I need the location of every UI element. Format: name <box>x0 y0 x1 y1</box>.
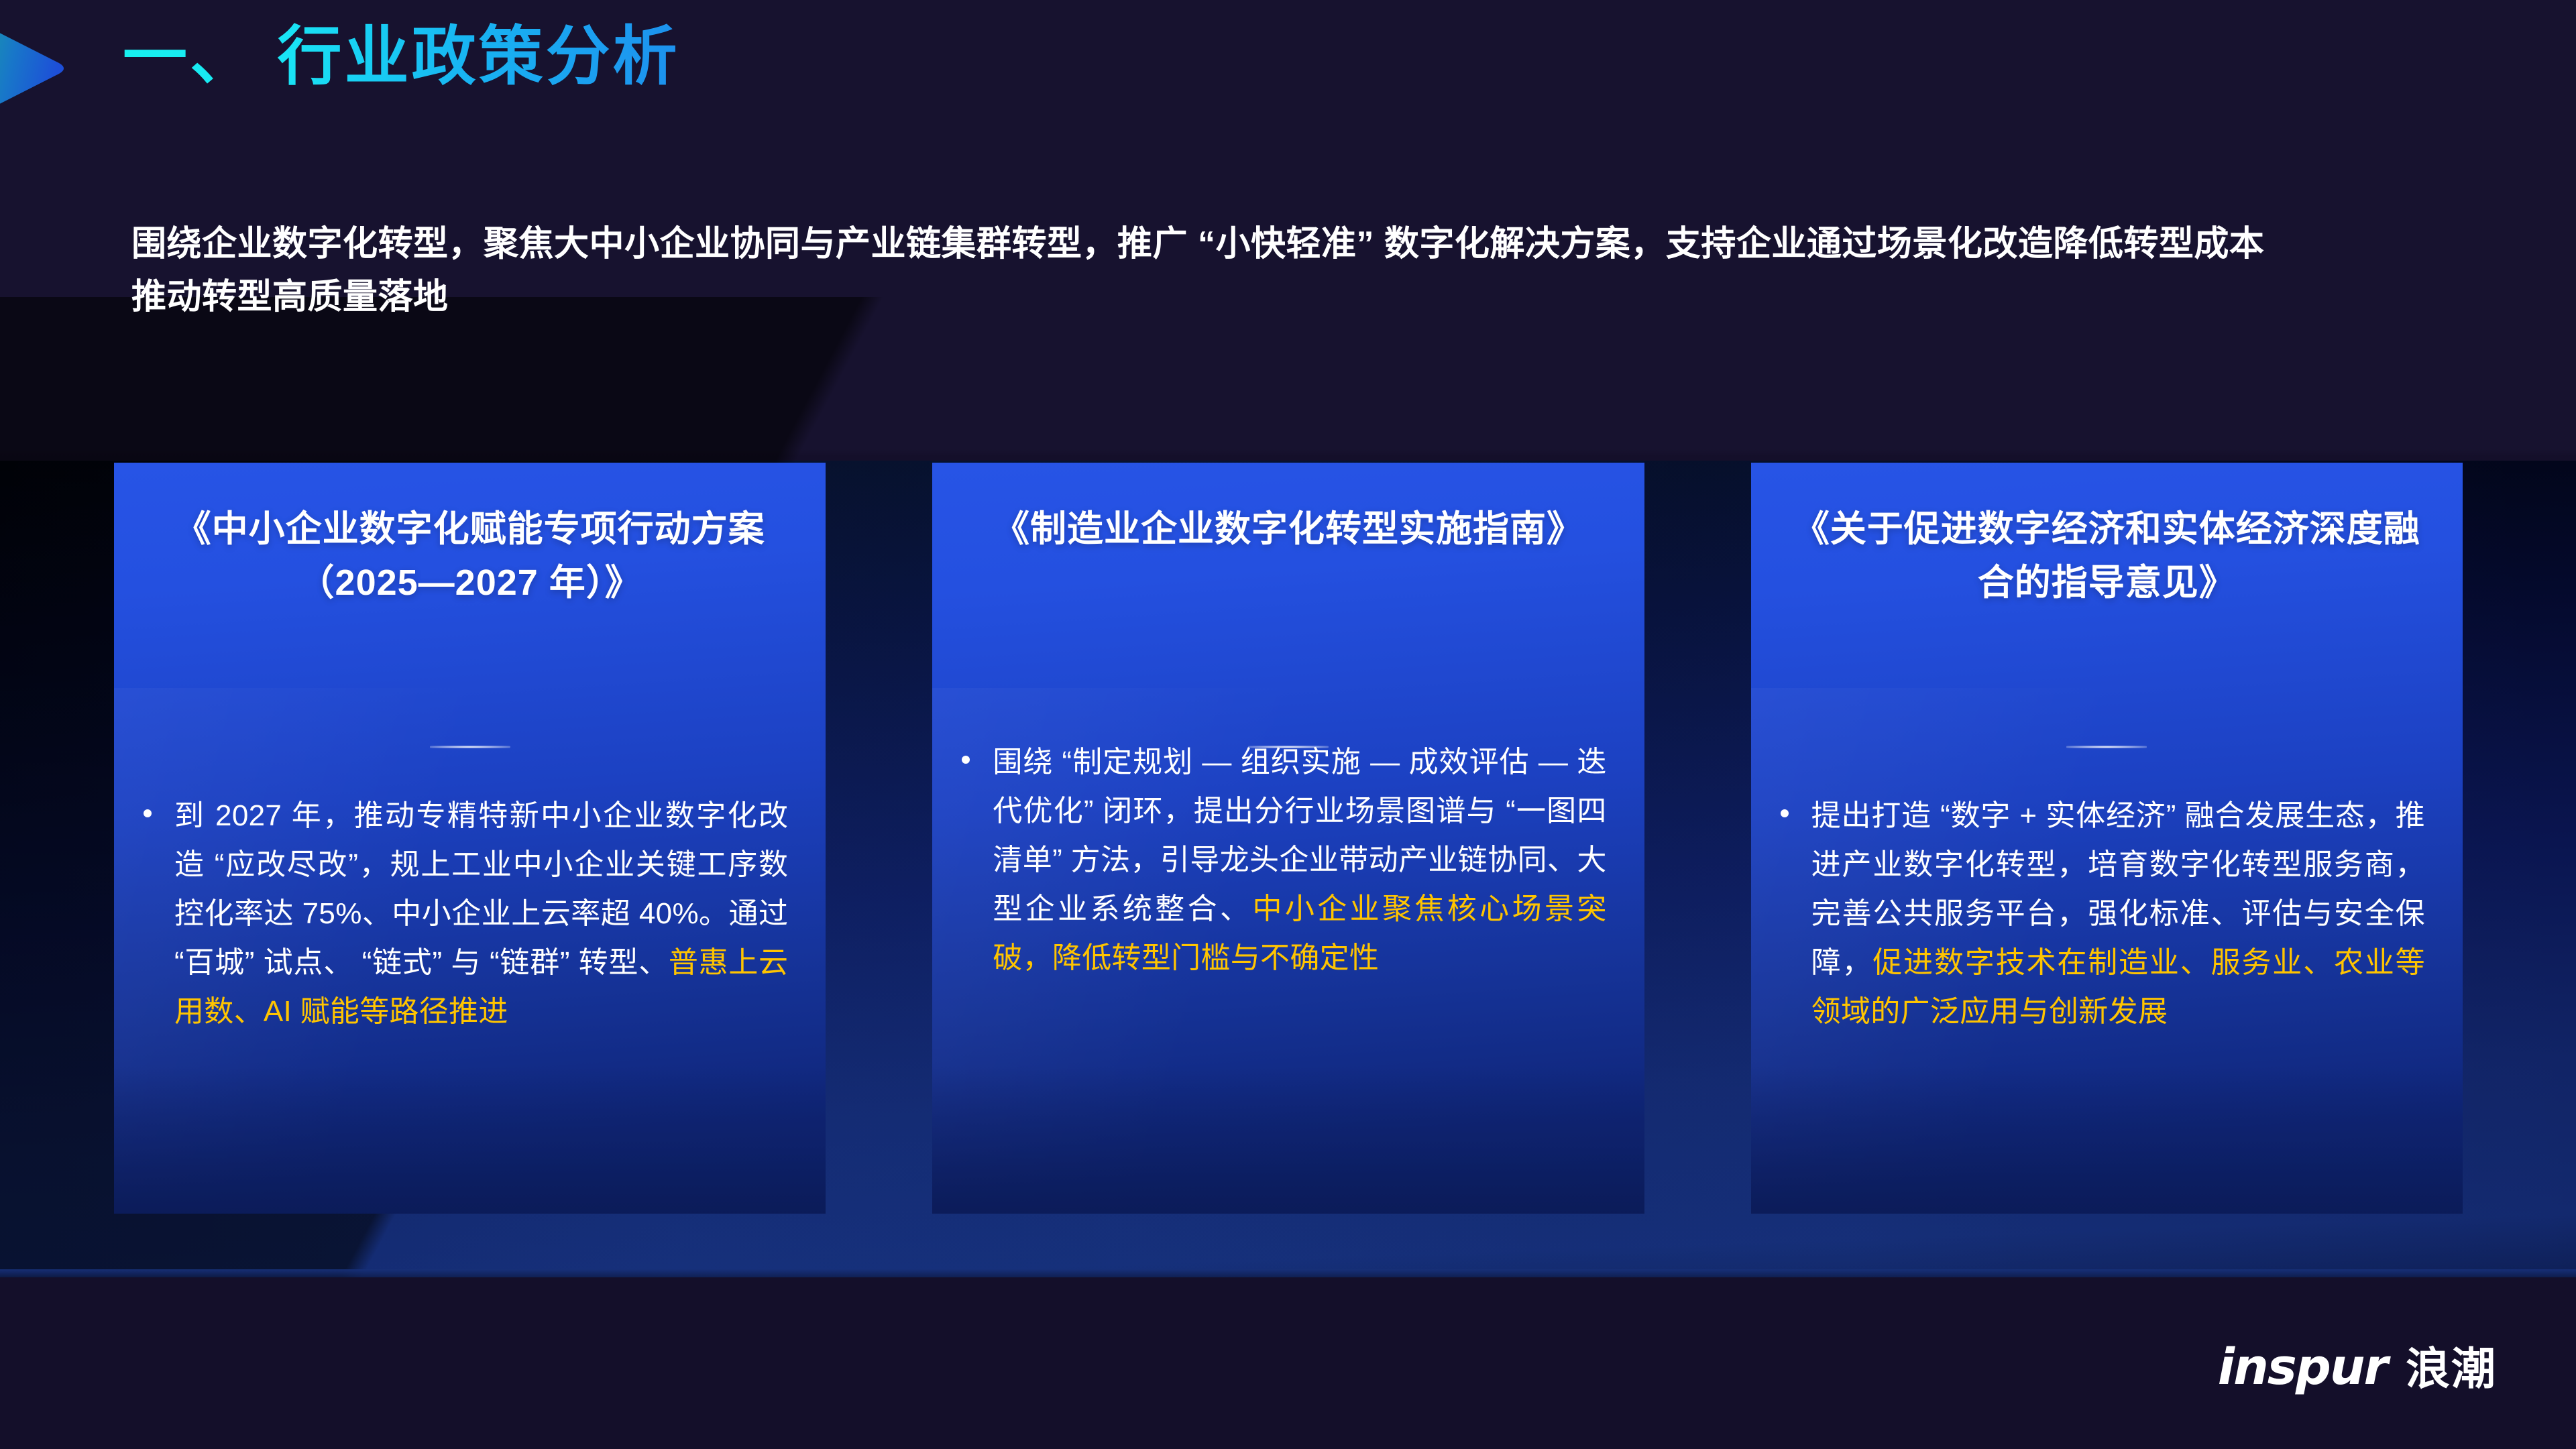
policy-card[interactable]: 《关于促进数字经济和实体经济深度融合的指导意见》 提出打造 “数字 + 实体经济… <box>1751 463 2463 1214</box>
card-body: 围绕 “制定规划 — 组织实施 — 成效评估 — 迭代优化” 闭环，提出分行业场… <box>962 557 1606 982</box>
bullet-point-icon <box>1781 809 1789 817</box>
brand-logo-wordmark: inspur <box>2218 1338 2387 1396</box>
brand-logo: inspur 浪潮 <box>2218 1333 2497 1397</box>
brand-logo-chinese: 浪潮 <box>2406 1333 2497 1397</box>
card-title: 《制造业企业数字化转型实施指南》 <box>970 503 1606 557</box>
policy-card-row: 《中小企业数字化赋能专项行动方案（2025—2027 年）》 到 2027 年，… <box>114 463 2463 1214</box>
card-title: 《中小企业数字化赋能专项行动方案（2025—2027 年）》 <box>152 503 788 610</box>
card-bullet-highlight: 促进数字技术在制造业、服务业、农业等领域的广泛应用与创新发展 <box>1811 946 2425 1028</box>
background-band-hairline <box>0 1269 2576 1277</box>
card-title: 《关于促进数字经济和实体经济深度融合的指导意见》 <box>1789 503 2425 610</box>
policy-card[interactable]: 《中小企业数字化赋能专项行动方案（2025—2027 年）》 到 2027 年，… <box>114 463 826 1214</box>
card-bullet-text: 提出打造 “数字 + 实体经济” 融合发展生态，推进产业数字化转型，培育数字化转… <box>1811 791 2425 1036</box>
card-body: 提出打造 “数字 + 实体经济” 融合发展生态，推进产业数字化转型，培育数字化转… <box>1781 610 2425 1036</box>
page-title: 一、 行业政策分析 <box>123 21 680 93</box>
policy-card[interactable]: 《制造业企业数字化转型实施指南》 围绕 “制定规划 — 组织实施 — 成效评估 … <box>932 463 1644 1214</box>
card-body: 到 2027 年，推动专精特新中小企业数字化改造 “应改尽改”，规上工业中小企业… <box>144 610 788 1036</box>
card-bullet-text: 到 2027 年，推动专精特新中小企业数字化改造 “应改尽改”，规上工业中小企业… <box>174 791 788 1036</box>
lead-paragraph: 围绕企业数字化转型，聚焦大中小企业协同与产业链集群转型，推广 “小快轻准” 数字… <box>131 218 2284 324</box>
chevron-icon <box>0 12 78 125</box>
bullet-point-icon <box>962 756 970 764</box>
background-footer-strip <box>0 1277 2576 1449</box>
bullet-point-icon <box>144 809 152 817</box>
slide-root: 一、 行业政策分析 围绕企业数字化转型，聚焦大中小企业协同与产业链集群转型，推广… <box>0 0 2576 1449</box>
card-bullet-text: 围绕 “制定规划 — 组织实施 — 成效评估 — 迭代优化” 闭环，提出分行业场… <box>993 738 1606 982</box>
